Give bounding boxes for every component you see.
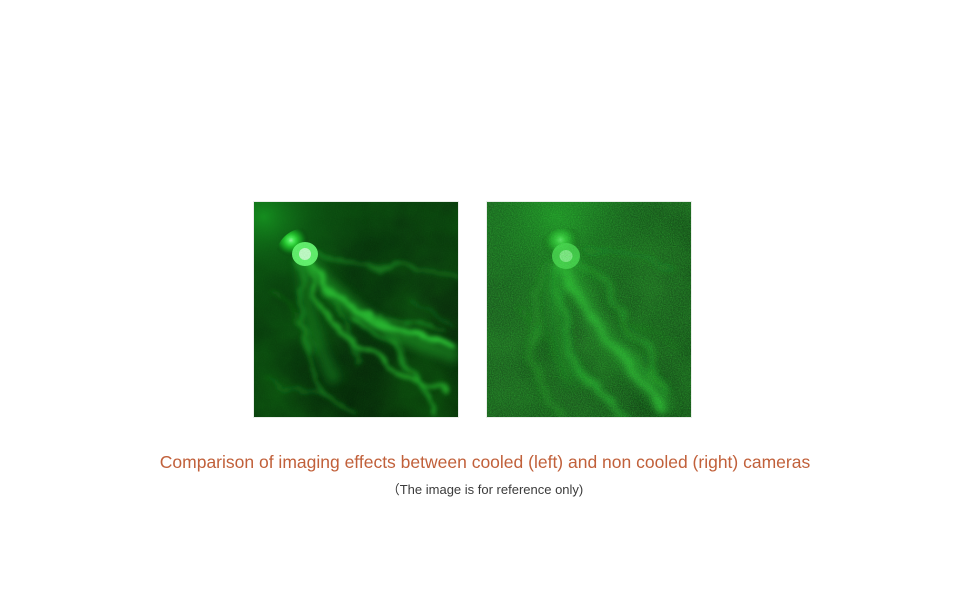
figure-root: Comparison of imaging effects between co…: [0, 0, 970, 600]
panel-cooled-camera[interactable]: [254, 202, 458, 417]
figure-caption-main: Comparison of imaging effects between co…: [0, 451, 970, 473]
cooled-camera-micrograph: [254, 202, 458, 417]
image-panel-row: [254, 202, 690, 418]
non-cooled-camera-micrograph: [487, 202, 691, 417]
figure-caption-sub: （The image is for reference only): [0, 481, 970, 499]
panel-non-cooled-camera[interactable]: [487, 202, 691, 417]
